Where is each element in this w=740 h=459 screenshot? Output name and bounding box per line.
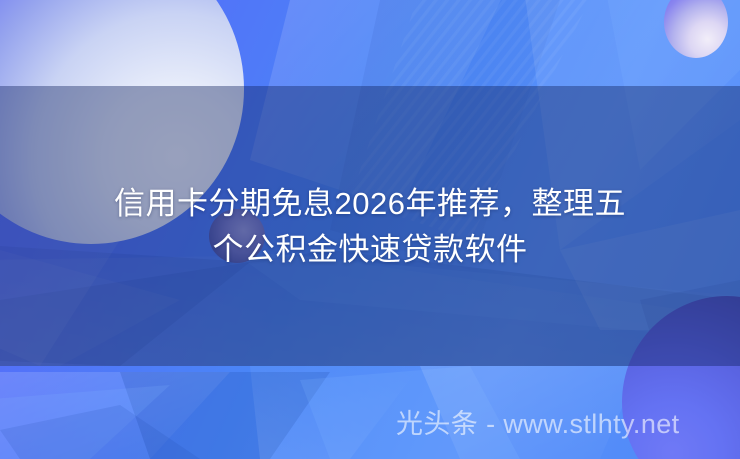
page-title: 信用卡分期免息2026年推荐，整理五 个公积金快速贷款软件 bbox=[0, 181, 740, 273]
article-cover-image: 信用卡分期免息2026年推荐，整理五 个公积金快速贷款软件 光头条 - www.… bbox=[0, 0, 740, 459]
watermark: 光头条 - www.stlhty.net bbox=[396, 407, 680, 441]
